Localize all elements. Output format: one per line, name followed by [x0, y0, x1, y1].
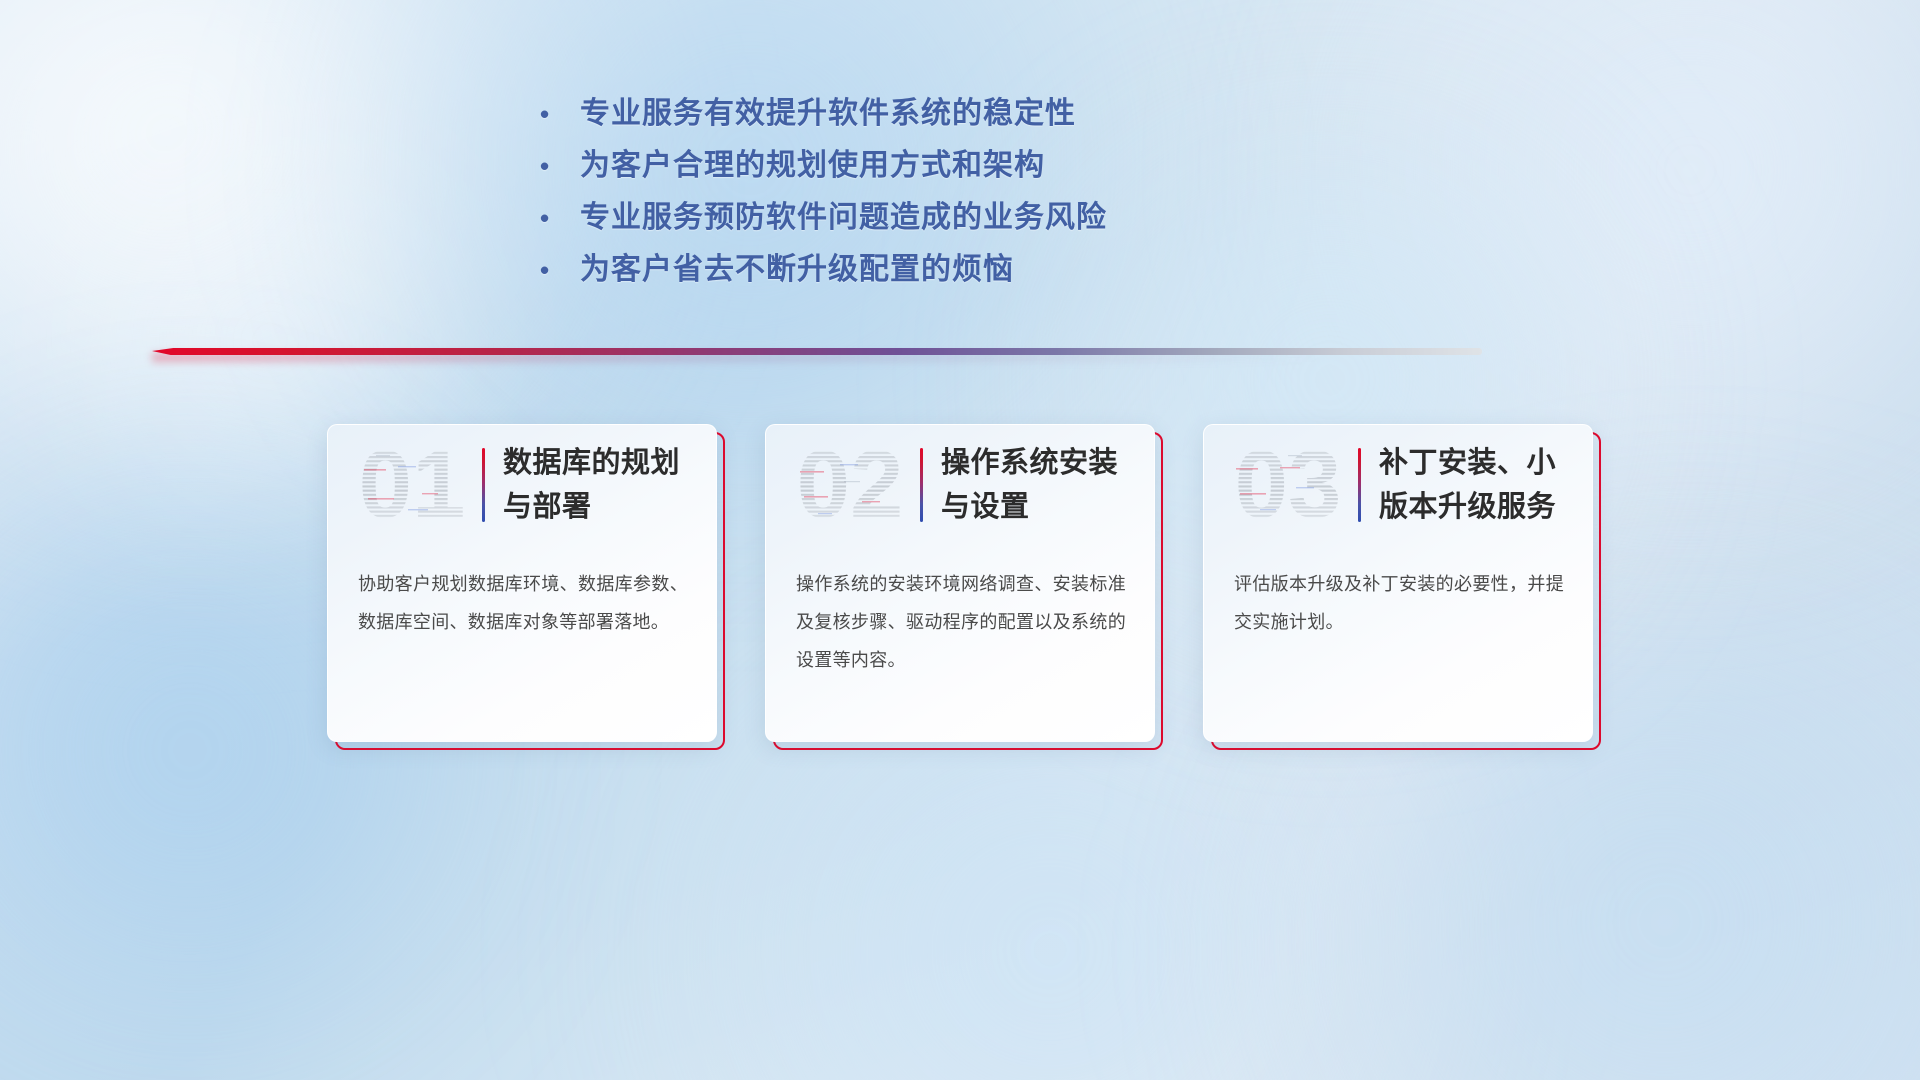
svg-text:02: 02: [797, 435, 904, 535]
card-body-text: 评估版本升级及补丁安装的必要性，并提交实施计划。: [1204, 545, 1592, 641]
service-card-row: 01 数据库的规划与部署: [0, 424, 1920, 742]
bullet-item: • 专业服务有效提升软件系统的稳定性: [540, 88, 1300, 140]
service-card-02[interactable]: 02 操作系统安装与设置 操作系统的安装环: [765, 424, 1155, 742]
card-title: 操作系统安装与设置: [941, 441, 1132, 529]
card-body-text: 操作系统的安装环境网络调查、安装标准及复核步骤、驱动程序的配置以及系统的设置等内…: [766, 545, 1154, 679]
card-number-icon: 02: [784, 435, 916, 535]
card-divider-bar: [1358, 448, 1361, 522]
bullet-dot-icon: •: [540, 192, 580, 244]
bullet-item: • 专业服务预防软件问题造成的业务风险: [540, 192, 1300, 244]
bullet-item: • 为客户省去不断升级配置的烦恼: [540, 244, 1300, 296]
benefits-bullet-list: • 专业服务有效提升软件系统的稳定性 • 为客户合理的规划使用方式和架构 • 专…: [540, 88, 1300, 296]
svg-text:01: 01: [359, 435, 466, 535]
card-number-glitch: 01: [346, 435, 478, 535]
divider-line: [152, 348, 1482, 355]
card-header: 01 数据库的规划与部署: [328, 425, 716, 545]
bullet-text: 为客户省去不断升级配置的烦恼: [580, 244, 1300, 296]
bullet-dot-icon: •: [540, 88, 580, 140]
bullet-dot-icon: •: [540, 140, 580, 192]
bullet-text: 为客户合理的规划使用方式和架构: [580, 140, 1300, 192]
card-number-icon: 01: [346, 435, 478, 535]
bullet-item: • 为客户合理的规划使用方式和架构: [540, 140, 1300, 192]
svg-text:03: 03: [1235, 435, 1342, 535]
card-title: 补丁安装、小版本升级服务: [1379, 441, 1570, 529]
card-number-glitch: 02: [784, 435, 916, 535]
card-divider-bar: [920, 448, 923, 522]
service-card-03[interactable]: 03 补丁安装、小版本升级服务 评估版本升: [1203, 424, 1593, 742]
card-surface: 03 补丁安装、小版本升级服务 评估版本升: [1203, 424, 1593, 742]
section-divider: [152, 344, 1482, 360]
card-title: 数据库的规划与部署: [503, 441, 694, 529]
card-divider-bar: [482, 448, 485, 522]
bullet-text: 专业服务预防软件问题造成的业务风险: [580, 192, 1300, 244]
card-surface: 01 数据库的规划与部署: [327, 424, 717, 742]
card-surface: 02 操作系统安装与设置 操作系统的安装环: [765, 424, 1155, 742]
card-number-icon: 03: [1222, 435, 1354, 535]
card-body-text: 协助客户规划数据库环境、数据库参数、数据库空间、数据库对象等部署落地。: [328, 545, 716, 641]
bullet-dot-icon: •: [540, 244, 580, 296]
card-number-glitch: 03: [1222, 435, 1354, 535]
card-header: 02 操作系统安装与设置: [766, 425, 1154, 545]
service-card-01[interactable]: 01 数据库的规划与部署: [327, 424, 717, 742]
card-header: 03 补丁安装、小版本升级服务: [1204, 425, 1592, 545]
bullet-text: 专业服务有效提升软件系统的稳定性: [580, 88, 1300, 140]
